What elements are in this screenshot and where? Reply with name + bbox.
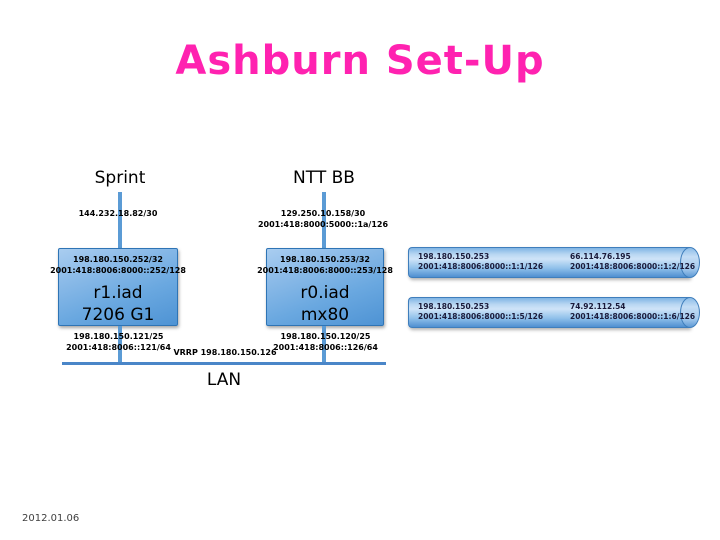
- lan-label-v4-r1: 198.180.150.121/25: [46, 331, 191, 342]
- lan-label: LAN: [184, 370, 264, 390]
- tunnel-1-local-v4: 198.180.150.253: [418, 252, 543, 262]
- slide-canvas: Ashburn Set-Up Sprint 144.232.18.82/30 1…: [0, 0, 720, 540]
- uplink-label-sprint-ipv4: 144.232.18.82/30: [40, 208, 196, 219]
- provider-label-ntt: NTT BB: [264, 168, 384, 188]
- router-loopback-v6-r1: 2001:418:8006:8000::252/128: [50, 265, 186, 276]
- uplink-label-ntt-ipv6: 2001:418:8000:5000::1a/126: [248, 219, 398, 230]
- page-title: Ashburn Set-Up: [0, 38, 720, 84]
- tunnel-1-remote-v4: 66.114.76.195: [570, 252, 695, 262]
- router-node-r0-iad[interactable]: 198.180.150.253/32 2001:418:8006:8000::2…: [266, 248, 384, 326]
- tunnel-pipe-2[interactable]: 198.180.150.253 2001:418:8006:8000::1:5/…: [408, 297, 700, 328]
- router-loopback-v6-r0: 2001:418:8006:8000::253/128: [257, 265, 393, 276]
- router-loopback-v4-r1: 198.180.150.252/32: [73, 254, 163, 265]
- tunnel-2-local: 198.180.150.253 2001:418:8006:8000::1:5/…: [418, 302, 543, 322]
- tunnel-pipe-1[interactable]: 198.180.150.253 2001:418:8006:8000::1:1/…: [408, 247, 700, 278]
- lan-label-v4-r0: 198.180.150.120/25: [253, 331, 398, 342]
- tunnel-2-remote-v4: 74.92.112.54: [570, 302, 695, 312]
- router-name-r0: r0.iad: [300, 282, 349, 304]
- vrrp-label: VRRP 198.180.150.126: [130, 348, 320, 357]
- lan-bar: [62, 362, 386, 365]
- tunnel-1-local: 198.180.150.253 2001:418:8006:8000::1:1/…: [418, 252, 543, 272]
- provider-label-sprint: Sprint: [60, 168, 180, 188]
- tunnel-2-remote: 74.92.112.54 2001:418:8006:8000::1:6/126: [570, 302, 695, 322]
- uplink-label-ntt-ipv4: 129.250.10.158/30: [248, 208, 398, 219]
- tunnel-2-remote-v6: 2001:418:8006:8000::1:6/126: [570, 312, 695, 322]
- tunnel-2-local-v4: 198.180.150.253: [418, 302, 543, 312]
- uplink-line-sprint: [118, 192, 122, 248]
- router-loopback-v4-r0: 198.180.150.253/32: [280, 254, 370, 265]
- tunnel-2-local-v6: 2001:418:8006:8000::1:5/126: [418, 312, 543, 322]
- footer-date: 2012.01.06: [22, 513, 79, 524]
- router-model-r0: mx80: [301, 304, 349, 326]
- tunnel-1-remote-v6: 2001:418:8006:8000::1:2/126: [570, 262, 695, 272]
- router-name-r1: r1.iad: [93, 282, 142, 304]
- tunnel-1-remote: 66.114.76.195 2001:418:8006:8000::1:2/12…: [570, 252, 695, 272]
- router-model-r1: 7206 G1: [82, 304, 155, 326]
- tunnel-1-local-v6: 2001:418:8006:8000::1:1/126: [418, 262, 543, 272]
- router-node-r1-iad[interactable]: 198.180.150.252/32 2001:418:8006:8000::2…: [58, 248, 178, 326]
